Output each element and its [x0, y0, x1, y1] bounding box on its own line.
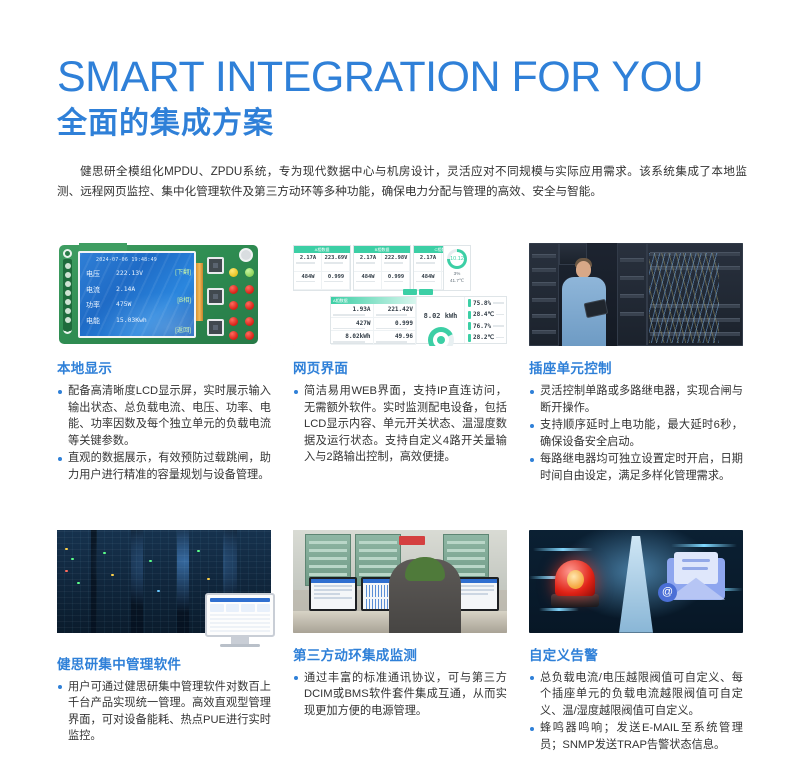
lcd-value-current: 2.14A — [116, 285, 135, 295]
detail-panel: A相数据 1.93A 221.42V 427W 0.999 8.02kWh 49… — [330, 296, 507, 344]
led-yellow — [229, 268, 238, 277]
marketing-page: SMART INTEGRATION FOR YOU 全面的集成方案 健思研全模组… — [0, 0, 800, 762]
exit-sign — [399, 536, 425, 545]
card-bullets-web-interface: 简洁易用WEB界面，支持IP直连访问，无需额外软件。实时监测配电设备，包括LCD… — [293, 383, 507, 466]
detail-power-factor: 0.999 — [376, 320, 414, 327]
list-item: 每路继电器均可独立设置定时开启，日期时间自由设定，满足多样化管理需求。 — [529, 451, 743, 484]
page-header: SMART INTEGRATION FOR YOU 全面的集成方案 — [57, 52, 757, 144]
phase-header-a: A相数据 — [294, 246, 350, 253]
card-title-custom-alarm: 自定义告警 — [529, 644, 743, 664]
env-temp-1: 28.4℃ — [473, 311, 494, 318]
led-red-2 — [245, 285, 254, 294]
led-red-4 — [245, 301, 254, 310]
card-bullets-local-display: 配备高清晰度LCD显示屏，实时展示输入输出状态、总负载电流、电压、功率、电能、功… — [57, 383, 271, 484]
environment-readings: 75.8% 28.4℃ 76.7% 28.2℃ — [465, 297, 506, 343]
card-central-management-software: 健思研集中管理软件 用户可通过健思研集中管理软件对数百上千台产品实现统一管理。高… — [57, 530, 271, 755]
card-bullets-central-management-software: 用户可通过健思研集中管理软件对数百上千台产品实现统一管理。高效直观型管理界面，可… — [57, 679, 271, 745]
lcd-value-power: 475W — [116, 300, 131, 310]
toolbar-button-1[interactable] — [403, 289, 417, 295]
at-sign-icon: @ — [658, 583, 677, 602]
list-item: 配备高清晰度LCD显示屏，实时展示输入输出状态、总负载电流、电压、功率、电能、功… — [57, 383, 271, 449]
email-envelope-icon: @ — [667, 558, 725, 600]
phase-a-voltage: 223.69V — [324, 255, 348, 261]
list-item: 总负载电流/电压越限阀值可自定义、每个插座单元的负载电流越限阀值可自定义、温/湿… — [529, 670, 743, 720]
phase-c-current: 2.17A — [416, 255, 440, 261]
detail-power: 427W — [333, 320, 371, 327]
card-title-web-interface: 网页界面 — [293, 357, 507, 377]
phase-b-pf: 0.999 — [384, 274, 408, 280]
phase-b-current: 2.17A — [356, 255, 380, 261]
lcd-value-energy: 15.03Kwh — [116, 316, 147, 326]
card-title-central-management-software: 健思研集中管理软件 — [57, 653, 271, 673]
led-red-1 — [229, 285, 238, 294]
lcd-timestamp: 2024-07-06 19:48:49 — [96, 257, 157, 263]
summary-gauge: 10.12 3% 41.7℃ — [443, 245, 471, 291]
phase-b-power: 484W — [356, 274, 380, 280]
card-bullets-third-party-monitoring: 通过丰富的标准通讯协议，可与第三方DCIM或BMS软件套件集成互通，从而实现更加… — [293, 670, 507, 720]
card-bullets-outlet-unit-control: 灵活控制单路或多路继电器，实现合闸与断开操作。 支持顺序延时上电功能，最大延时6… — [529, 383, 743, 485]
page-title-chinese: 全面的集成方案 — [57, 104, 757, 144]
flex-cable — [196, 263, 203, 321]
intro-paragraph: 健思研全模组化MPDU、ZPDU系统，专为现代数据中心与机房设计，灵活应对不同规… — [57, 162, 747, 202]
card-title-third-party-monitoring: 第三方动环集成监测 — [293, 644, 507, 664]
card-title-outlet-unit-control: 插座单元控制 — [529, 357, 743, 377]
env-humidity-1: 75.8% — [473, 300, 491, 307]
tactile-button-1[interactable] — [207, 257, 224, 274]
engineer-figure — [576, 261, 591, 278]
gauge-value: 10.12 — [450, 252, 464, 266]
phase-panel-b: B相数据 2.17A 222.98V 484W 0.999 — [353, 245, 411, 291]
figure-pcb-lcd-board: 2024-07-06 19:48:49 电压222.13V 电流2.14A 功率… — [57, 243, 271, 346]
tactile-button-2[interactable] — [207, 288, 224, 305]
led-red-5 — [229, 317, 238, 326]
card-local-display: 2024-07-06 19:48:49 电压222.13V 电流2.14A 功率… — [57, 243, 271, 486]
monitor-screen-1 — [309, 577, 357, 611]
network-cables — [649, 253, 719, 343]
lcd-label-power: 功率 — [86, 300, 116, 310]
reset-button[interactable] — [239, 248, 253, 262]
phase-a-current: 2.17A — [296, 255, 320, 261]
list-item: 简洁易用WEB界面，支持IP直连访问，无需额外软件。实时监测配电设备，包括LCD… — [293, 383, 507, 466]
monitor-screen-4 — [455, 577, 499, 611]
figure-web-dashboard: A相数据 2.17A 223.69V 484W 0.999 B相数据 — [293, 243, 507, 346]
card-custom-alarm: @ 自定义告警 总负载电流/电压越限阀值可自定义、每个插座单元的负载电流越限阀值… — [529, 530, 743, 755]
feature-card-grid: 2024-07-06 19:48:49 电压222.13V 电流2.14A 功率… — [57, 243, 743, 755]
led-red-6 — [245, 317, 254, 326]
list-item: 灵活控制单路或多路继电器，实现合闸与断开操作。 — [529, 383, 743, 416]
detail-frequency: 49.96 — [376, 333, 414, 340]
lcd-softkey-phase-b: [B相] — [177, 295, 191, 304]
lcd-label-voltage: 电压 — [86, 269, 116, 279]
figure-engineer-datacenter-photo — [529, 243, 743, 346]
energy-total: 8.02 kWh — [424, 312, 458, 320]
energy-gauge: 8.02 kWh — [417, 297, 465, 343]
env-humidity-2: 76.7% — [473, 323, 491, 330]
phase-a-power: 484W — [296, 274, 320, 280]
figure-alarm-beacon-email: @ — [529, 530, 743, 633]
card-bullets-custom-alarm: 总负载电流/电压越限阀值可自定义、每个插座单元的负载电流越限阀值可自定义、温/湿… — [529, 670, 743, 754]
list-item: 直观的数据展示，有效预防过载跳闸，助力用户进行精准的容量规划与设备管理。 — [57, 450, 271, 483]
env-temp-2: 28.2℃ — [473, 334, 494, 341]
phase-panel-a: A相数据 2.17A 223.69V 484W 0.999 — [293, 245, 351, 291]
lcd-value-voltage: 222.13V — [116, 269, 143, 279]
card-outlet-unit-control: 插座单元控制 灵活控制单路或多路继电器，实现合闸与断开操作。 支持顺序延时上电功… — [529, 243, 743, 486]
phase-b-voltage: 222.98V — [384, 255, 408, 261]
detail-current: 1.93A — [333, 306, 371, 313]
toolbar-buttons[interactable] — [403, 289, 433, 295]
led-red-7 — [229, 331, 238, 340]
toolbar-button-2[interactable] — [419, 289, 433, 295]
detail-voltage: 221.42V — [376, 306, 414, 313]
card-web-interface: A相数据 2.17A 223.69V 484W 0.999 B相数据 — [293, 243, 507, 486]
management-software-monitor — [205, 593, 275, 647]
lcd-screen: 2024-07-06 19:48:49 电压222.13V 电流2.14A 功率… — [78, 251, 196, 338]
lcd-softkey-back: [返回] — [175, 325, 191, 334]
lcd-label-current: 电流 — [86, 285, 116, 295]
lcd-softkey-next: [下翻] — [175, 267, 191, 276]
card-title-local-display: 本地显示 — [57, 357, 271, 377]
list-item: 用户可通过健思研集中管理软件对数百上千台产品实现统一管理。高效直观型管理界面，可… — [57, 679, 271, 745]
gauge-humidity: 3% — [444, 271, 470, 276]
detail-energy: 8.02kWh — [333, 333, 371, 340]
led-red-8 — [245, 331, 254, 340]
led-green — [245, 268, 254, 277]
list-item: 蜂鸣器鸣响；发送E-MAIL至系统管理员；SNMP发送TRAP告警状态信息。 — [529, 720, 743, 753]
led-red-3 — [229, 301, 238, 310]
phase-header-b: B相数据 — [354, 246, 410, 253]
phase-c-power: 484W — [416, 274, 440, 280]
detail-header: A相数据 — [331, 297, 416, 304]
figure-noc-operator-photo — [293, 530, 507, 633]
figure-server-room-monitor-photo — [57, 530, 271, 633]
phase-a-pf: 0.999 — [324, 274, 348, 280]
tactile-button-3[interactable] — [207, 319, 224, 336]
gauge-temperature: 41.7℃ — [444, 278, 470, 284]
lcd-label-energy: 电能 — [86, 316, 116, 326]
list-item: 通过丰富的标准通讯协议，可与第三方DCIM或BMS软件套件集成互通，从而实现更加… — [293, 670, 507, 720]
list-item: 支持顺序延时上电功能，最大延时6秒，确保设备安全启动。 — [529, 417, 743, 450]
page-title-english: SMART INTEGRATION FOR YOU — [57, 52, 757, 102]
card-third-party-monitoring: 第三方动环集成监测 通过丰富的标准通讯协议，可与第三方DCIM或BMS软件套件集… — [293, 530, 507, 755]
